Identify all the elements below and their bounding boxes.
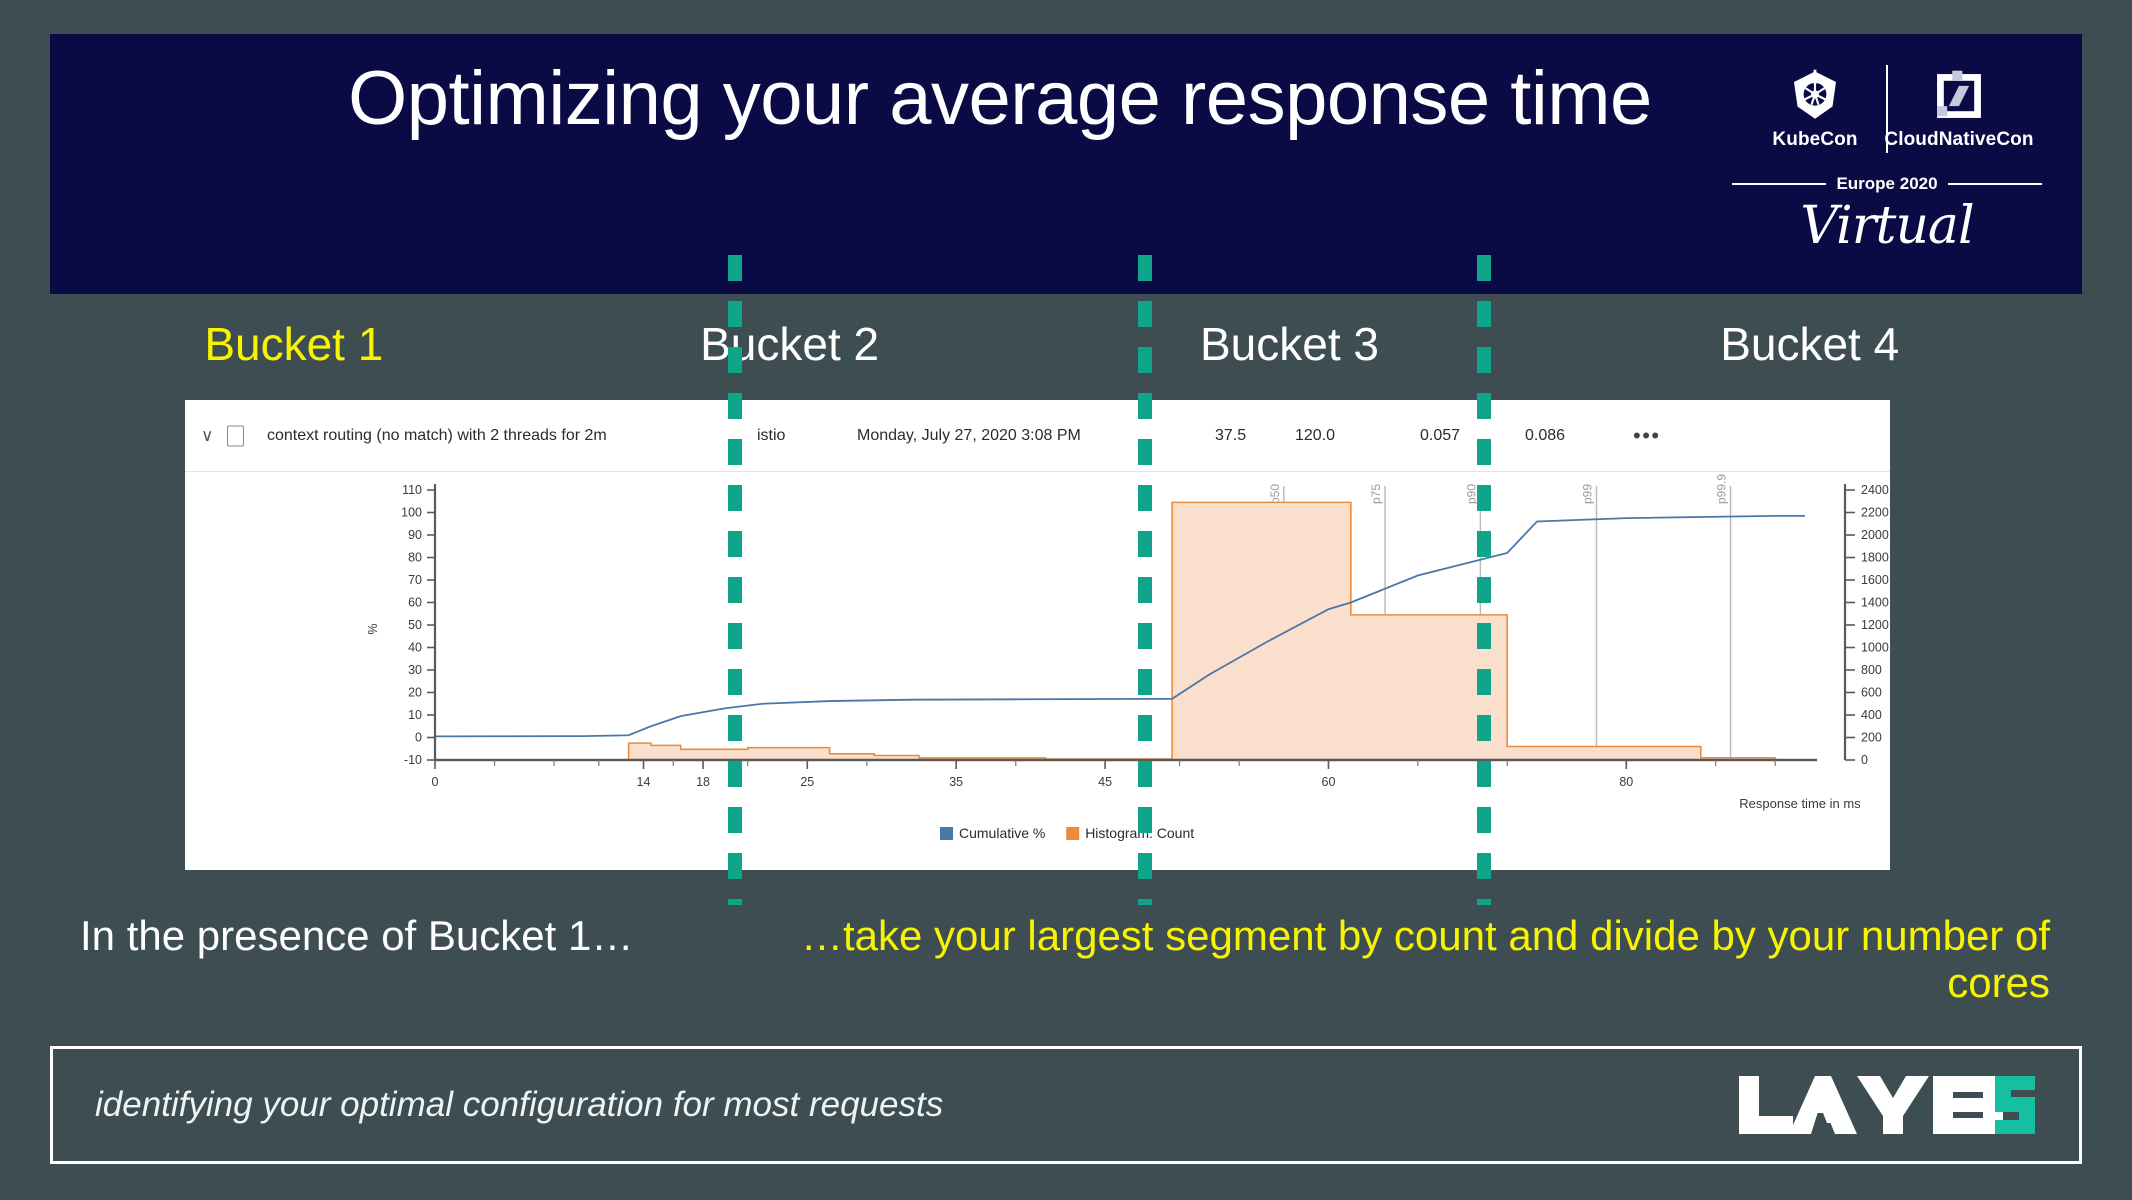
bucket-label-4: Bucket 4 [1537,296,2082,392]
conference-mode-label: Virtual [1732,196,2042,256]
y-tick-label: 60 [408,596,422,610]
legend-label: Histogram: Count [1085,825,1194,841]
percentile-marker-label: p50 [1268,484,1282,504]
legend-swatch [940,827,953,840]
benchmark-result-card: ∨ context routing (no match) with 2 thre… [185,400,1890,870]
metric-4-value: 0.086 [1525,427,1565,445]
y-tick-label: 20 [408,686,422,700]
run-date-label: Monday, July 27, 2020 3:08 PM [857,427,1081,445]
y-tick-label: 80 [408,551,422,565]
metric-1-value: 37.5 [1215,427,1246,445]
caption-right: …take your largest segment by count and … [790,912,2050,1006]
service-mesh-label: istio [757,427,785,445]
y-tick-label: 90 [408,528,422,542]
bucket-label-3: Bucket 3 [1042,296,1538,392]
kubecon-cloudnativecon-logo: KubeCon CloudNativeCon [1732,54,2042,276]
y2-tick-label: 1800 [1861,551,1889,565]
y2-tick-label: 1400 [1861,596,1889,610]
kubecon-label: KubeCon [1772,129,1857,151]
caption-left: In the presence of Bucket 1… [80,912,770,959]
logo-rule-right [1948,183,2042,185]
y-tick-label: 100 [401,506,422,520]
y-axis-label: % [366,623,380,634]
expand-chevron-icon[interactable]: ∨ [201,426,213,446]
percentile-marker-label: p75 [1369,484,1383,504]
y2-tick-label: 1000 [1861,641,1889,655]
y2-tick-label: 600 [1861,686,1882,700]
y2-tick-label: 2400 [1861,483,1889,497]
bucket-label-row: Bucket 1Bucket 2Bucket 3Bucket 4 [50,296,2082,392]
y2-tick-label: 2000 [1861,528,1889,542]
bucket-label-2: Bucket 2 [538,296,1042,392]
overflow-menu-icon[interactable]: ••• [1633,423,1661,449]
metric-3-value: 0.057 [1420,427,1460,445]
cumulative-line [435,516,1805,737]
histogram-plot: p50p75p90p99p99.9-1001020304050607080901… [185,472,1890,870]
kubernetes-helm-icon [1787,67,1843,125]
y-tick-label: -10 [404,753,422,767]
x-tick-label: 25 [800,775,814,789]
y-tick-label: 110 [402,483,422,497]
footer-bar: identifying your optimal configuration f… [50,1046,2082,1164]
percentile-marker-label: p90 [1464,484,1478,504]
header-band: Optimizing your average response time [50,34,2082,294]
y-tick-label: 10 [408,708,422,722]
x-tick-label: 18 [696,775,710,789]
y-tick-label: 30 [408,663,422,677]
x-tick-label: 60 [1322,775,1336,789]
y2-tick-label: 1600 [1861,573,1889,587]
y2-tick-label: 400 [1861,708,1882,722]
conference-edition: Europe 2020 [1836,174,1937,194]
slide-root: Optimizing your average response time [0,0,2132,1200]
x-tick-label: 35 [949,775,963,789]
result-row-header: ∨ context routing (no match) with 2 thre… [185,400,1890,472]
metric-2-value: 120.0 [1295,427,1335,445]
logo-rule-left [1732,183,1826,185]
page-title: Optimizing your average response time [290,60,1710,138]
y2-tick-label: 2200 [1861,506,1889,520]
histogram-svg: p50p75p90p99p99.9-1001020304050607080901… [185,472,1890,870]
x-tick-label: 0 [432,775,439,789]
percentile-marker-label: p99 [1581,484,1595,504]
y-tick-label: 50 [408,618,422,632]
bucket-label-1: Bucket 1 [50,296,538,392]
row-select-checkbox[interactable] [227,425,244,446]
y-tick-label: 40 [408,641,422,655]
y-tick-label: 0 [415,731,422,745]
histogram-area [629,502,1776,760]
test-name-label: context routing (no match) with 2 thread… [267,427,607,445]
x-axis-label: Response time in ms [1739,796,1861,811]
x-tick-label: 45 [1098,775,1112,789]
x-tick-label: 80 [1619,775,1633,789]
layer5-logo [1737,1072,2037,1138]
y2-tick-label: 800 [1861,663,1882,677]
y2-tick-label: 200 [1861,731,1882,745]
y2-tick-label: 0 [1861,753,1868,767]
y-tick-label: 70 [408,573,422,587]
footer-tagline: identifying your optimal configuration f… [95,1085,943,1125]
legend-swatch [1066,827,1079,840]
percentile-marker-label: p99.9 [1715,474,1729,504]
y2-tick-label: 1200 [1861,618,1889,632]
cloudnative-cube-icon [1932,67,1986,125]
x-tick-label: 14 [637,775,651,789]
cloudnativecon-label: CloudNativeCon [1884,129,2033,151]
legend-label: Cumulative % [959,825,1045,841]
